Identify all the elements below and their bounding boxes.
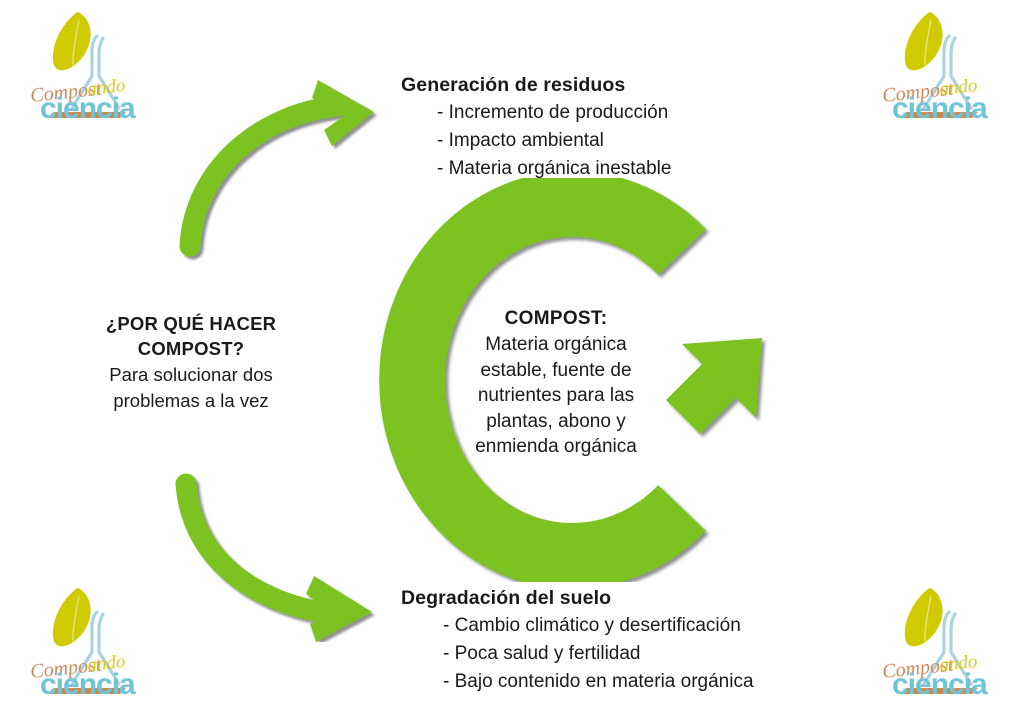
waste-generation-block: Generación de residuos - Incremento de p… (401, 72, 831, 183)
waste-generation-title: Generación de residuos (401, 72, 831, 99)
soil-degradation-block: Degradación del suelo - Cambio climático… (401, 585, 861, 696)
logo-word-ciencia: ciencia (892, 92, 988, 125)
why-compost-subtitle: Para solucionar dos problemas a la vez (72, 362, 310, 413)
arrow-to-waste-generation (168, 74, 414, 264)
waste-generation-list: - Incremento de producción - Impacto amb… (401, 99, 831, 183)
compost-description-line: plantas, abono y (434, 409, 678, 435)
soil-degradation-list: - Cambio climático y desertificación - P… (401, 612, 861, 696)
leaf-icon (48, 584, 98, 652)
why-compost-title-line-2: COMPOST? (72, 337, 310, 362)
logo-word-ciencia: ciencia (40, 92, 136, 125)
list-item: - Cambio climático y desertificación (443, 612, 861, 640)
compost-definition-block: COMPOST: Materia orgánica estable, fuent… (434, 306, 678, 460)
list-item: - Poca salud y fertilidad (443, 640, 861, 668)
arrow-to-soil-degradation (164, 466, 410, 642)
list-item: - Impacto ambiental (437, 127, 831, 155)
diagram-canvas: Compost ando ciencia Compost ando cienci… (0, 0, 1024, 724)
compost-description-line: estable, fuente de (434, 358, 678, 384)
logo-compostando-ciencia-top-right: Compost ando ciencia (866, 2, 998, 134)
compost-description-line: Materia orgánica (434, 332, 678, 358)
compost-description-line: enmienda orgánica (434, 434, 678, 460)
logo-word-ciencia: ciencia (40, 668, 136, 701)
list-item: - Incremento de producción (437, 99, 831, 127)
leaf-icon (900, 8, 950, 76)
compost-description-line: nutrientes para las (434, 383, 678, 409)
list-item: - Bajo contenido en materia orgánica (443, 668, 861, 696)
logo-compostando-ciencia-top-left: Compost ando ciencia (14, 2, 146, 134)
leaf-icon (48, 8, 98, 76)
why-compost-title-line-1: ¿POR QUÉ HACER (72, 312, 310, 337)
logo-compostando-ciencia-bottom-right: Compost ando ciencia (866, 578, 998, 710)
logo-compostando-ciencia-bottom-left: Compost ando ciencia (14, 578, 146, 710)
list-item: - Materia orgánica inestable (437, 155, 831, 183)
leaf-icon (900, 584, 950, 652)
soil-degradation-title: Degradación del suelo (401, 585, 861, 612)
compost-description: Materia orgánica estable, fuente de nutr… (434, 332, 678, 460)
cycle-arrowhead (666, 338, 762, 434)
why-compost-title: ¿POR QUÉ HACER COMPOST? (72, 312, 310, 361)
why-compost-block: ¿POR QUÉ HACER COMPOST? Para solucionar … (72, 312, 310, 413)
compost-label: COMPOST: (434, 306, 678, 332)
why-compost-sub-line-2: problemas a la vez (72, 388, 310, 414)
why-compost-sub-line-1: Para solucionar dos (72, 362, 310, 388)
logo-word-ciencia: ciencia (892, 668, 988, 701)
